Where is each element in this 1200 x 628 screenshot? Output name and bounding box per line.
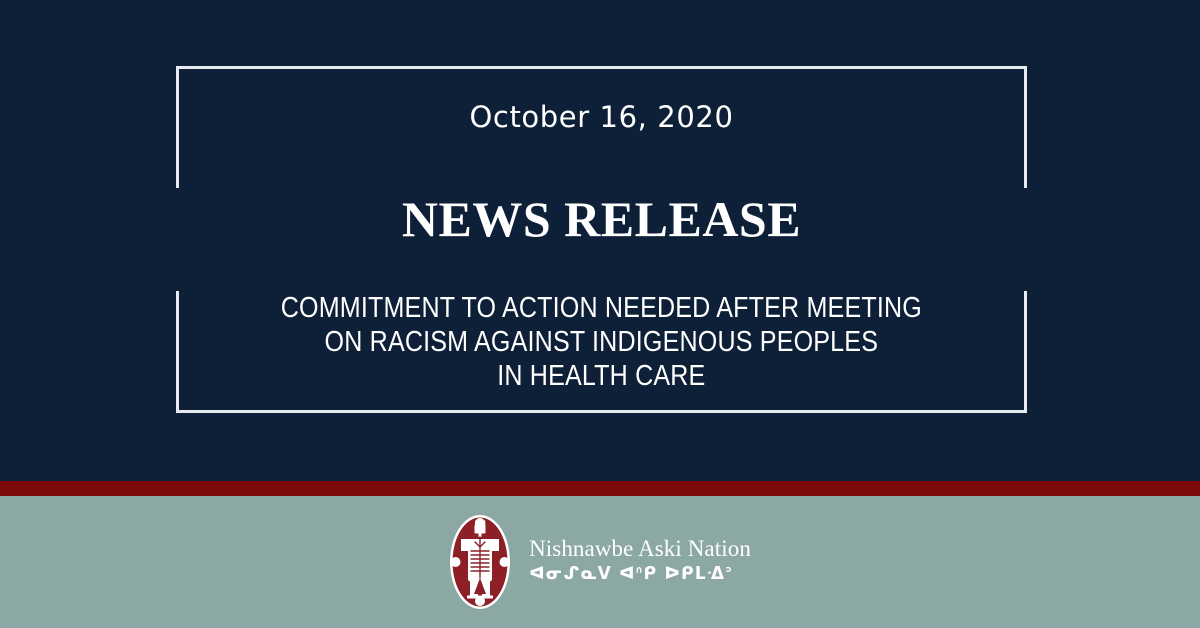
nan-shaman-emblem-icon	[449, 514, 511, 610]
organization-name: Nishnawbe Aski Nation	[529, 537, 751, 562]
release-date: October 16, 2020	[469, 103, 733, 132]
news-release-poster: October 16, 2020 NEWS RELEASE COMMITMENT…	[0, 0, 1200, 628]
release-kicker: NEWS RELEASE	[402, 194, 801, 244]
organization-name-syllabics: ᐊᓂᔑᓇᐯ ᐊᐢᑭ ᐅᑭᒪᐎᐣ	[529, 564, 751, 585]
organization-logo-lockup: Nishnawbe Aski Nation ᐊᓂᔑᓇᐯ ᐊᐢᑭ ᐅᑭᒪᐎᐣ	[0, 496, 1200, 628]
logo-wordmark: Nishnawbe Aski Nation ᐊᓂᔑᓇᐯ ᐊᐢᑭ ᐅᑭᒪᐎᐣ	[529, 537, 751, 587]
red-divider-stripe	[0, 481, 1200, 496]
release-headline: COMMITMENT TO ACTION NEEDED AFTER MEETIN…	[281, 291, 922, 393]
announcement-content: October 16, 2020 NEWS RELEASE COMMITMENT…	[176, 66, 1027, 413]
